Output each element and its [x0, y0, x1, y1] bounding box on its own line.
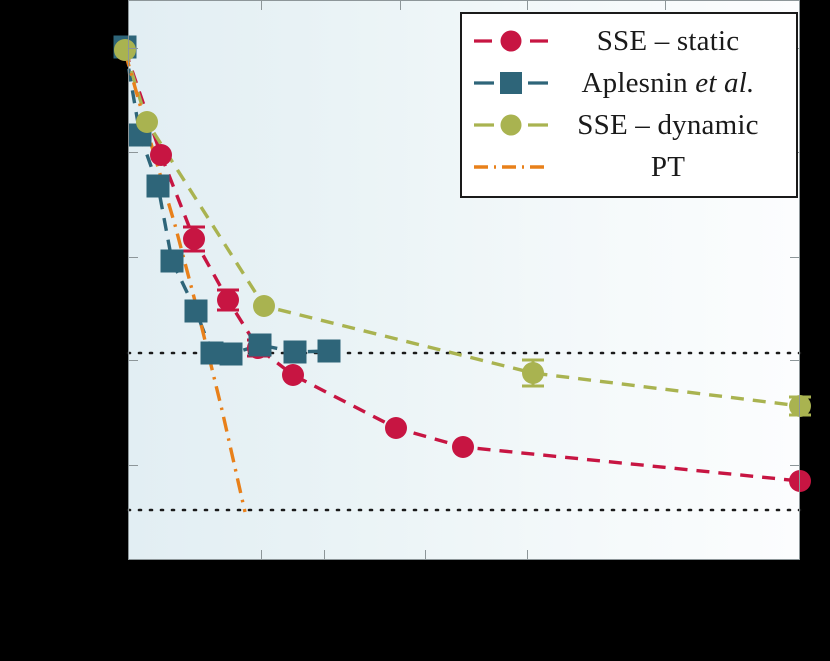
data-point	[114, 39, 136, 61]
figure-root: SSE – static Aplesnin et al. SSE – d	[0, 0, 830, 661]
data-point	[217, 289, 239, 311]
tick-x-bottom	[261, 550, 262, 560]
legend-entry-aplesnin: Aplesnin et al.	[472, 62, 786, 104]
tick-y-left	[128, 257, 138, 258]
reference-lines	[128, 353, 800, 510]
data-point	[789, 470, 811, 492]
data-point	[249, 334, 272, 357]
tick-x-bottom	[324, 550, 325, 560]
data-point	[185, 300, 208, 323]
axis-bottom	[128, 559, 800, 560]
legend-label-aplesnin: Aplesnin et al.	[550, 67, 786, 100]
legend-marker-pt	[472, 152, 550, 182]
legend-entry-sse-dynamic: SSE – dynamic	[472, 104, 786, 146]
tick-y-right	[790, 465, 800, 466]
legend-entry-pt: PT	[472, 146, 786, 188]
tick-y-left	[128, 152, 138, 153]
legend-label-pt: PT	[550, 151, 786, 184]
tick-x-top	[261, 0, 262, 10]
data-point	[452, 436, 474, 458]
tick-y-left	[128, 360, 138, 361]
data-point	[136, 111, 158, 133]
chart-legend: SSE – static Aplesnin et al. SSE – d	[460, 12, 798, 198]
data-point	[789, 395, 811, 417]
data-point	[282, 364, 304, 386]
data-point	[220, 343, 243, 366]
tick-x-bottom	[425, 550, 426, 560]
legend-label-sse-static: SSE – static	[550, 25, 786, 58]
data-point	[284, 341, 307, 364]
data-point	[147, 175, 170, 198]
axis-top	[128, 0, 800, 1]
legend-marker-aplesnin	[472, 68, 550, 98]
data-point	[385, 417, 407, 439]
tick-x-top	[665, 0, 666, 10]
error-bars	[183, 227, 811, 415]
tick-x-top	[400, 0, 401, 10]
data-point	[318, 340, 341, 363]
data-point	[253, 295, 275, 317]
data-point	[522, 362, 544, 384]
tick-y-left	[128, 465, 138, 466]
legend-marker-sse-dynamic	[472, 110, 550, 140]
tick-y-right	[790, 257, 800, 258]
legend-marker-sse-static	[472, 26, 550, 56]
axis-right	[799, 0, 800, 560]
tick-y-right	[790, 360, 800, 361]
legend-label-sse-dynamic: SSE – dynamic	[550, 109, 786, 142]
axis-left	[128, 0, 129, 560]
tick-y-left	[128, 48, 138, 49]
data-point	[183, 228, 205, 250]
tick-x-bottom	[527, 550, 528, 560]
data-point	[161, 250, 184, 273]
legend-entry-sse-static: SSE – static	[472, 20, 786, 62]
tick-x-top	[527, 0, 528, 10]
data-point	[150, 144, 172, 166]
